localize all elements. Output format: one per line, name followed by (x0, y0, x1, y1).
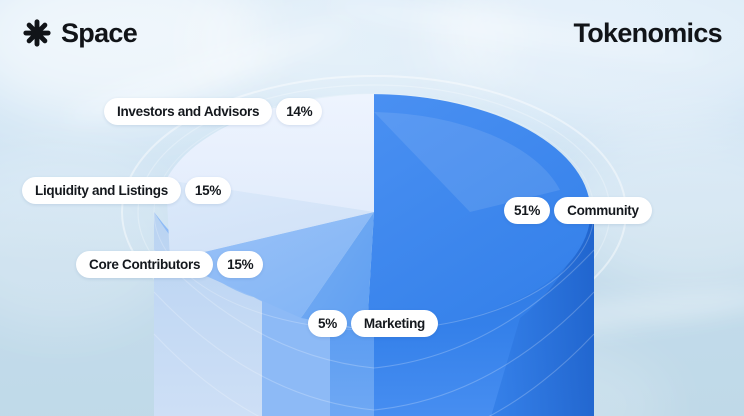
slice-percent-badge: 15% (185, 177, 231, 204)
slice-label-text: Liquidity and Listings (22, 177, 181, 204)
slice-percent-badge: 14% (276, 98, 322, 125)
brand-name: Space (61, 20, 137, 47)
page-title: Tokenomics (573, 20, 722, 47)
slice-percent-badge: 15% (217, 251, 263, 278)
slide-header: Space Tokenomics (0, 0, 744, 74)
slice-side-marketing (330, 325, 374, 416)
brand: Space (22, 18, 137, 48)
slice-label-text: Core Contributors (76, 251, 213, 278)
slice-label-investors-and-advisors[interactable]: Investors and Advisors 14% (104, 98, 322, 125)
slice-percent-badge: 51% (504, 197, 550, 224)
slice-label-text: Community (554, 197, 652, 224)
slice-percent-badge: 5% (308, 310, 347, 337)
slice-label-community[interactable]: 51% Community (504, 197, 652, 224)
slice-label-liquidity-and-listings[interactable]: Liquidity and Listings 15% (22, 177, 231, 204)
slice-label-core-contributors[interactable]: Core Contributors 15% (76, 251, 263, 278)
slice-label-text: Marketing (351, 310, 438, 337)
asterisk-star-icon (22, 18, 52, 48)
slice-label-marketing[interactable]: 5% Marketing (308, 310, 438, 337)
tokenomics-slide: Space Tokenomics Investors and Advisors … (0, 0, 744, 416)
slice-label-text: Investors and Advisors (104, 98, 272, 125)
